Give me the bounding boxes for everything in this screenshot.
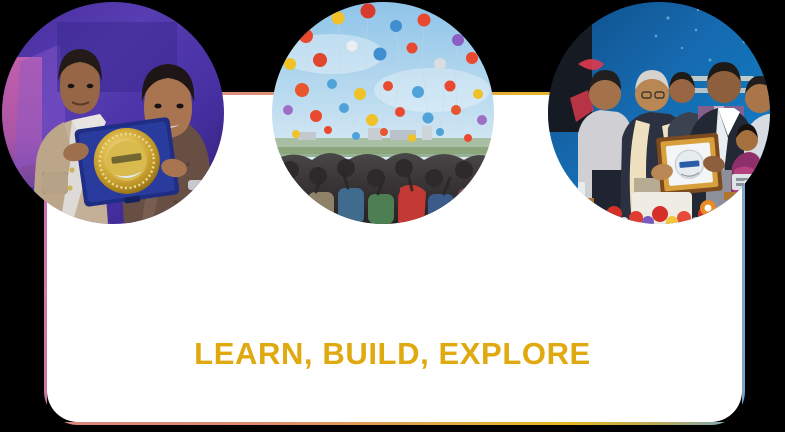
award-ceremony-image [2,2,224,224]
promo-banner: LEARN, BUILD, EXPLORE [0,0,785,432]
balloon-release-photo[interactable] [272,2,494,224]
felicitation-photo[interactable] [548,2,770,224]
balloon-release-image [272,2,494,224]
tagline-text: LEARN, BUILD, EXPLORE [0,336,785,372]
award-ceremony-photo[interactable] [2,2,224,224]
felicitation-image [548,2,770,224]
